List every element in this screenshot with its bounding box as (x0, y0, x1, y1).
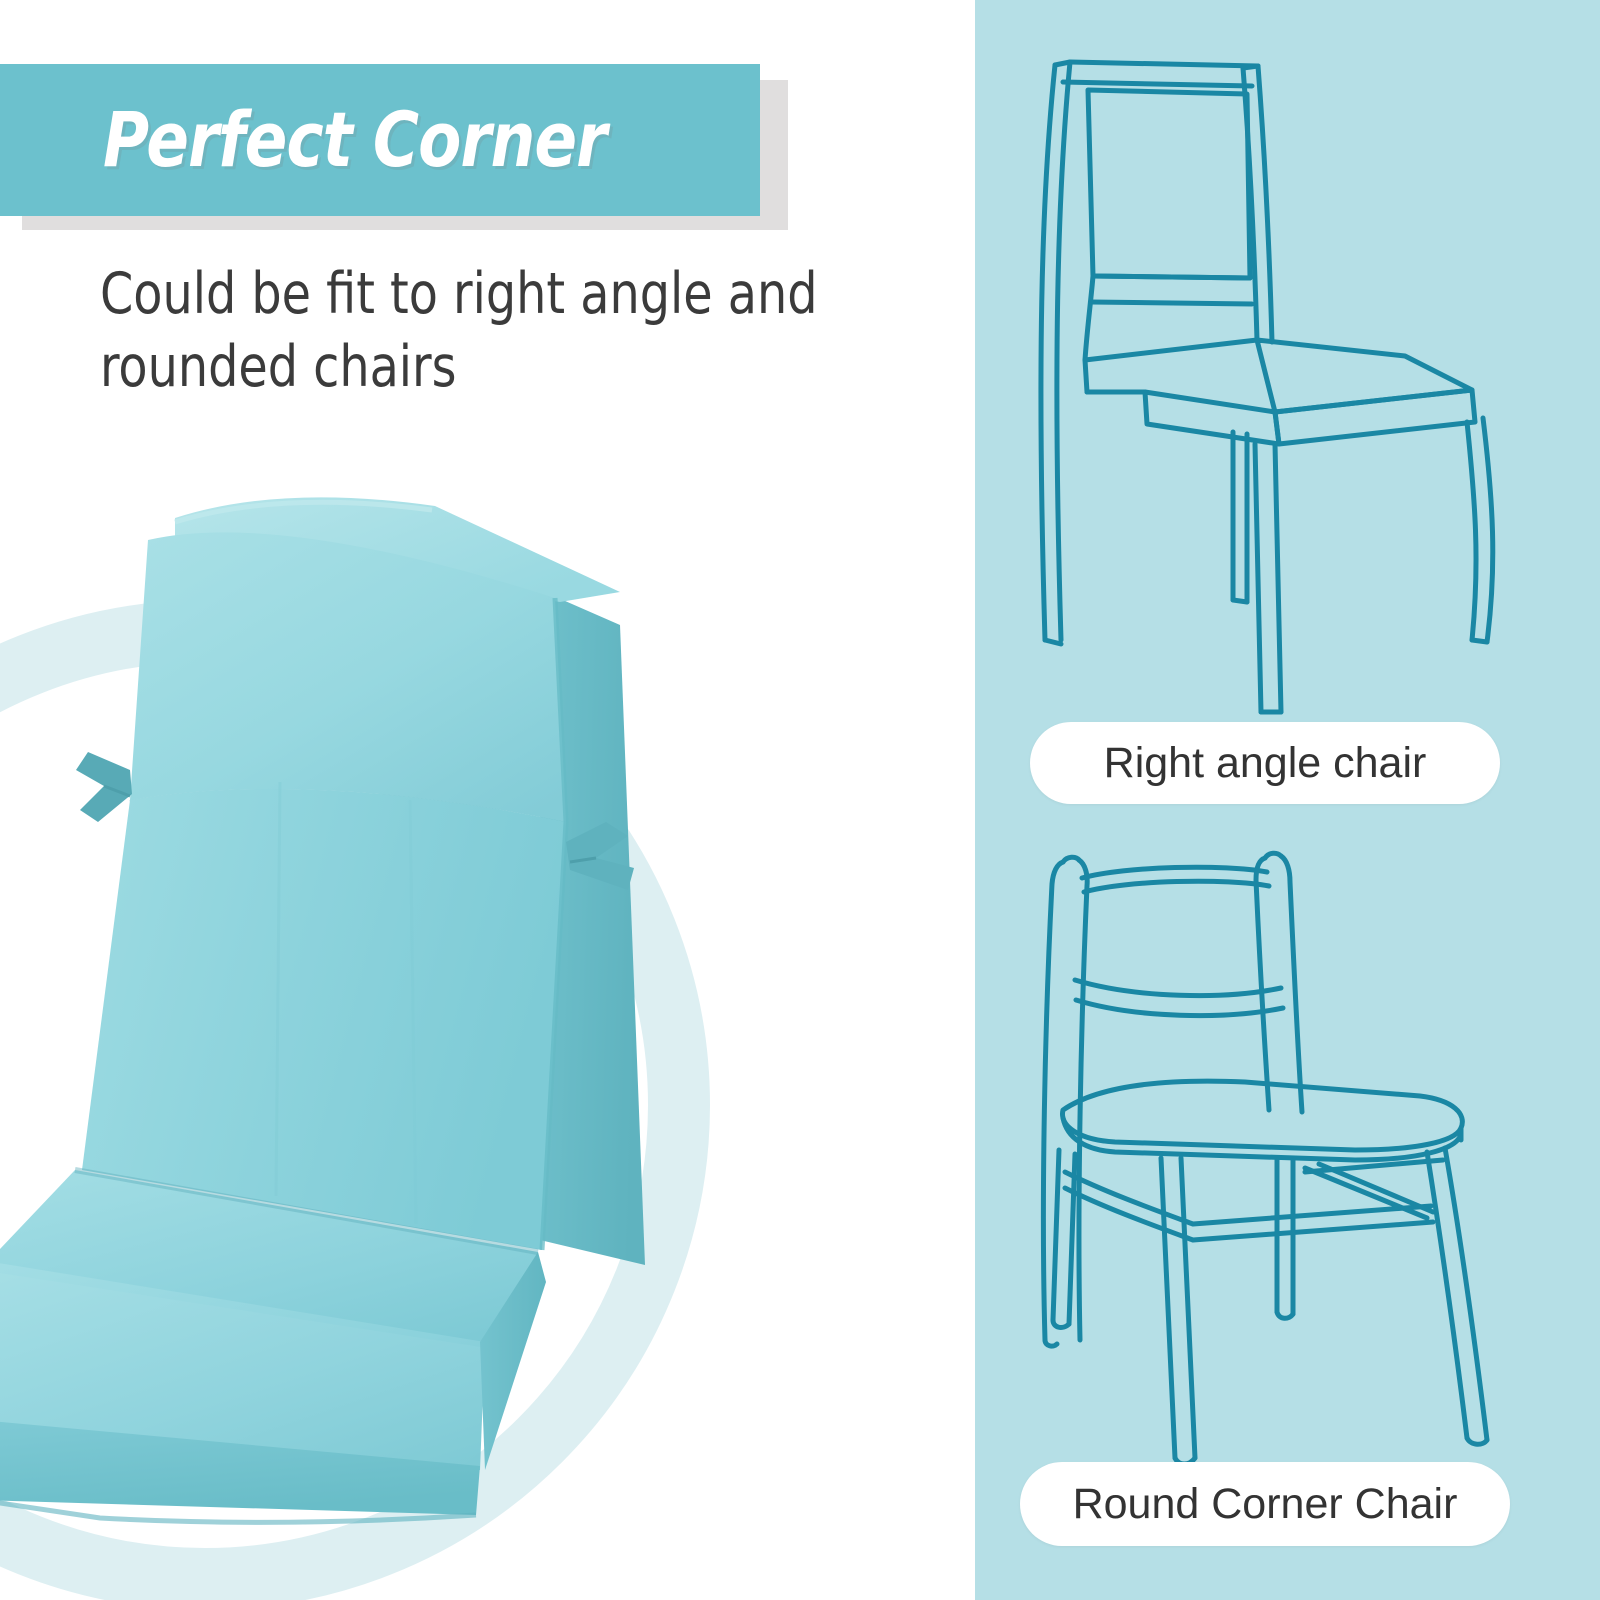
right-panel: Right angle chair (975, 0, 1600, 1600)
label-round-corner-chair: Round Corner Chair (1020, 1462, 1510, 1546)
subtitle-text: Could be fit to right angle and rounded … (100, 258, 881, 404)
tie-strap-left (76, 752, 132, 822)
round-corner-chair-icon (975, 820, 1600, 1470)
label-right-angle-chair: Right angle chair (1030, 722, 1500, 804)
product-image-cushion (0, 470, 700, 1530)
cushion-back-front-face (82, 789, 566, 1250)
left-panel: Perfect Corner Could be fit to right ang… (0, 0, 975, 1600)
infographic-page: Perfect Corner Could be fit to right ang… (0, 0, 1600, 1600)
page-title: Perfect Corner (103, 102, 606, 178)
headline-banner: Perfect Corner (0, 64, 760, 216)
right-angle-chair-icon (975, 40, 1600, 720)
